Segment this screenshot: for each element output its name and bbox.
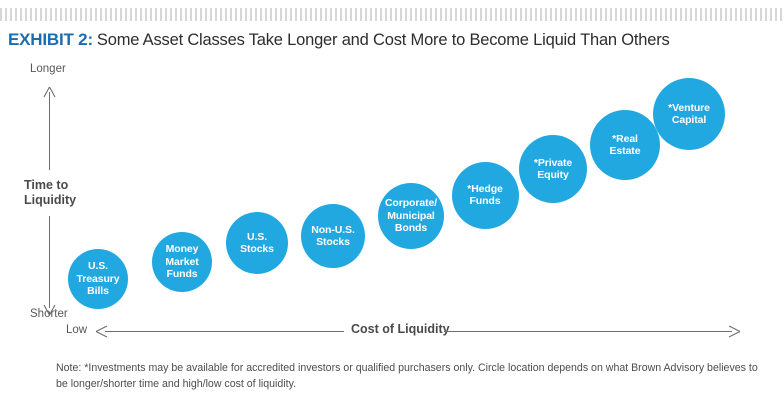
bubble-label: U.S.Stocks — [240, 231, 274, 256]
y-axis-bottom-label: Shorter — [30, 308, 68, 320]
bubble-label: *PrivateEquity — [534, 157, 572, 182]
y-axis-title-line1: Time to — [24, 178, 76, 193]
chart-plot-area: Longer Time to Liquidity Shorter Low Cos… — [0, 0, 784, 405]
bubble-label: *VentureCapital — [668, 102, 710, 127]
y-axis-line-lower — [49, 216, 50, 308]
y-axis-title-line2: Liquidity — [24, 193, 76, 208]
arrow-up-icon — [43, 85, 56, 96]
arrow-right-icon — [728, 325, 740, 338]
x-axis-low-label: Low — [66, 324, 87, 336]
chart-footnote: Note: *Investments may be available for … — [56, 361, 758, 392]
bubble-label: *RealEstate — [610, 133, 641, 158]
asset-class-bubble[interactable]: *HedgeFunds — [452, 162, 519, 229]
bubble-label: *HedgeFunds — [467, 183, 503, 208]
y-axis-top-label: Longer — [30, 63, 66, 75]
bubble-label: Non-U.S.Stocks — [311, 224, 355, 249]
bubble-label: Corporate/MunicipalBonds — [385, 197, 437, 235]
asset-class-bubble[interactable]: Corporate/MunicipalBonds — [378, 183, 444, 249]
bubble-label: U.S.TreasuryBills — [77, 260, 120, 298]
y-axis-title: Time to Liquidity — [24, 178, 76, 208]
asset-class-bubble[interactable]: U.S.TreasuryBills — [68, 249, 128, 309]
asset-class-bubble[interactable]: *VentureCapital — [653, 78, 725, 150]
y-axis-line-upper — [49, 92, 50, 170]
x-axis-line-left — [105, 331, 347, 332]
asset-class-bubble[interactable]: MoneyMarketFunds — [152, 232, 212, 292]
asset-class-bubble[interactable]: *RealEstate — [590, 110, 660, 180]
asset-class-bubble[interactable]: *PrivateEquity — [519, 135, 587, 203]
asset-class-bubble[interactable]: Non-U.S.Stocks — [301, 204, 365, 268]
bubble-label: MoneyMarketFunds — [165, 243, 198, 281]
asset-class-bubble[interactable]: U.S.Stocks — [226, 212, 288, 274]
x-axis-line-right — [444, 331, 732, 332]
x-axis-title: Cost of Liquidity — [344, 322, 457, 336]
